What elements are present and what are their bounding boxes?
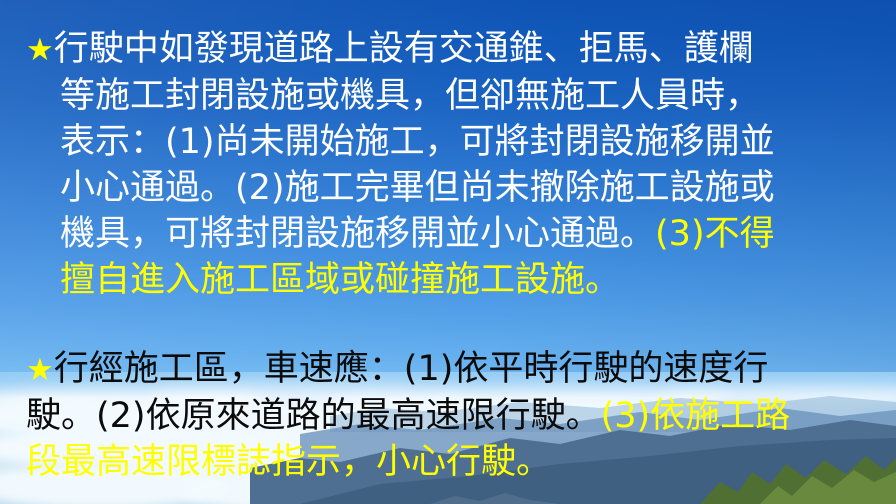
text-line: 機具，可將封閉設施移開並小心通過。(3)不得 — [26, 211, 882, 257]
text-line: 駛。(2)依原來道路的最高速限行駛。(3)依施工路 — [26, 393, 882, 439]
line-text: 駛。(2)依原來道路的最高速限行駛。 — [26, 396, 601, 436]
text-line: ★行經施工區，車速應：(1)依平時行駛的速度行 — [26, 346, 882, 393]
text-line: 表示：(1)尚未開始施工，可將封閉設施移開並 — [26, 119, 882, 165]
line-text-highlight: 段最高速限標誌指示，小心行駛。 — [26, 442, 551, 482]
text-line: 擅自進入施工區域或碰撞施工設施。 — [26, 257, 882, 303]
paragraph-speed-in-work-zone: ★行經施工區，車速應：(1)依平時行駛的速度行 駛。(2)依原來道路的最高速限行… — [26, 346, 882, 485]
line-text-highlight: 擅自進入施工區域或碰撞施工設施。 — [60, 260, 620, 300]
presentation-slide: ★行駛中如發現道路上設有交通錐、拒馬、護欄 等施工封閉設施或機具，但卻無施工人員… — [0, 0, 896, 504]
line-text: 小心通過。(2)施工完畢但尚未撤除施工設施或 — [60, 168, 775, 208]
star-bullet-icon: ★ — [26, 352, 54, 388]
paragraph-construction-closure: ★行駛中如發現道路上設有交通錐、拒馬、護欄 等施工封閉設施或機具，但卻無施工人員… — [26, 26, 882, 303]
line-text-highlight: (3)不得 — [655, 214, 775, 254]
line-text: 行經施工區，車速應：(1)依平時行駛的速度行 — [54, 349, 769, 389]
text-line: 小心通過。(2)施工完畢但尚未撤除施工設施或 — [26, 165, 882, 211]
line-text-highlight: (3)依施工路 — [601, 396, 791, 436]
text-line: ★行駛中如發現道路上設有交通錐、拒馬、護欄 — [26, 26, 882, 73]
line-text: 機具，可將封閉設施移開並小心通過。 — [60, 214, 655, 254]
star-bullet-icon: ★ — [26, 32, 54, 68]
line-text: 行駛中如發現道路上設有交通錐、拒馬、護欄 — [54, 29, 754, 69]
text-line: 等施工封閉設施或機具，但卻無施工人員時， — [26, 73, 882, 119]
line-text: 表示：(1)尚未開始施工，可將封閉設施移開並 — [60, 122, 775, 162]
slide-text-layer: ★行駛中如發現道路上設有交通錐、拒馬、護欄 等施工封閉設施或機具，但卻無施工人員… — [0, 0, 896, 504]
line-text: 等施工封閉設施或機具，但卻無施工人員時， — [60, 76, 760, 116]
text-line: 段最高速限標誌指示，小心行駛。 — [26, 439, 882, 485]
